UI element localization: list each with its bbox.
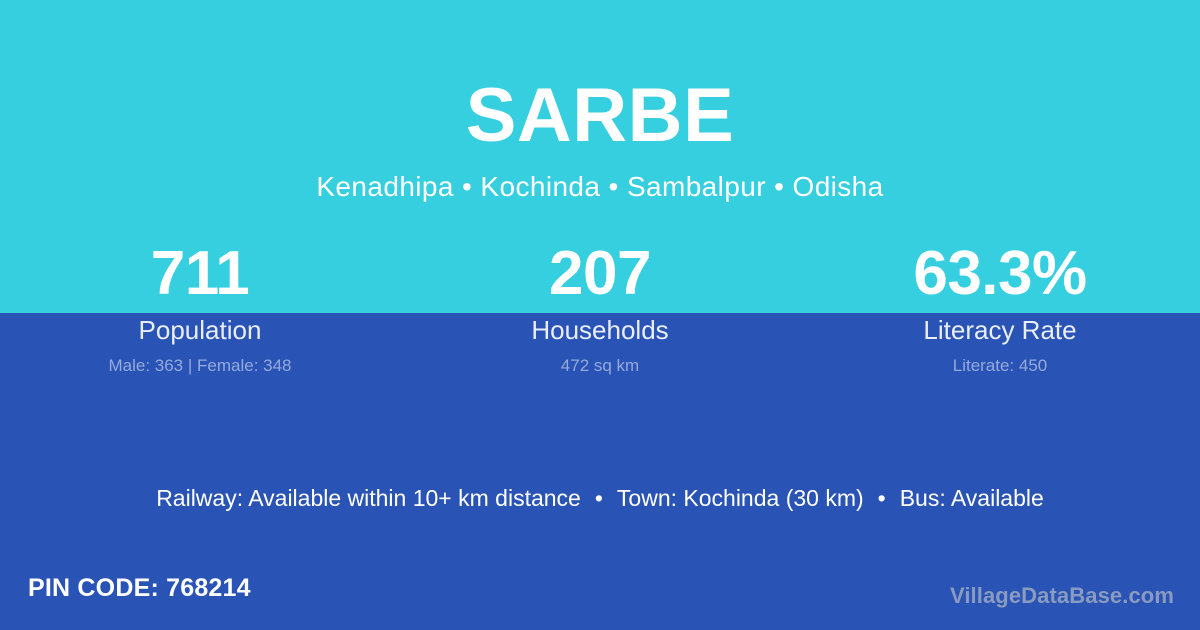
stat-literacy-rate: 63.3% Literacy Rate Literate: 450: [800, 243, 1200, 377]
stat-population-label: Population: [0, 315, 400, 346]
stat-households-value: 207: [400, 243, 800, 313]
stat-households-sub: 472 sq km: [400, 356, 800, 376]
pin-code: PIN CODE: 768214: [28, 574, 251, 603]
stat-literacy-rate-label: Literacy Rate: [800, 315, 1200, 346]
stat-literacy-rate-sub: Literate: 450: [800, 356, 1200, 376]
stats-row: 711 Population Male: 363 | Female: 348 2…: [0, 243, 1200, 377]
page-title: SARBE: [0, 78, 1200, 154]
stat-population-sub: Male: 363 | Female: 348: [0, 356, 400, 376]
amenity-town: Town: Kochinda (30 km): [617, 485, 864, 511]
amenities-line: Railway: Available within 10+ km distanc…: [0, 484, 1200, 514]
stat-households: 207 Households 472 sq km: [400, 243, 800, 377]
amenity-separator-2: •: [864, 485, 900, 511]
stat-population: 711 Population Male: 363 | Female: 348: [0, 243, 400, 377]
card-header: SARBE Kenadhipa • Kochinda • Sambalpur •…: [0, 0, 1200, 203]
site-brand: VillageDataBase.com: [950, 583, 1174, 609]
stat-literacy-rate-value: 63.3%: [800, 243, 1200, 313]
stat-population-value: 711: [0, 243, 400, 313]
breadcrumb: Kenadhipa • Kochinda • Sambalpur • Odish…: [0, 172, 1200, 203]
amenity-bus: Bus: Available: [900, 485, 1044, 511]
stat-households-label: Households: [400, 315, 800, 346]
amenity-railway: Railway: Available within 10+ km distanc…: [156, 485, 581, 511]
amenity-separator-1: •: [581, 485, 617, 511]
